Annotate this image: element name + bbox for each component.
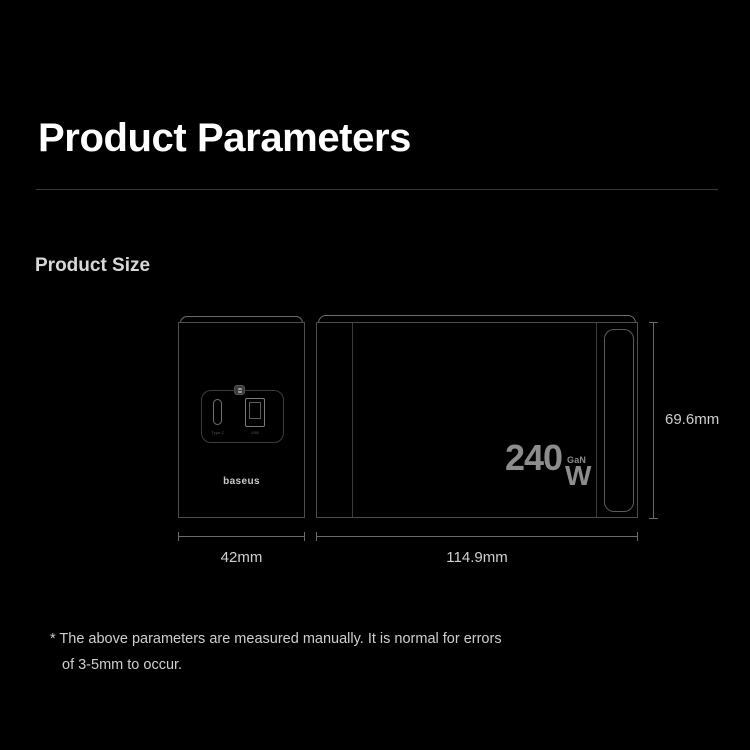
- wattage-unit: W: [565, 462, 591, 490]
- dimension-label-front-width: 42mm: [178, 549, 305, 566]
- usb-a-port-icon: [245, 398, 265, 427]
- side-view-end-cap: [604, 329, 634, 512]
- baseus-brand-logo: baseus: [205, 476, 278, 487]
- dimension-cap-height-top: [649, 322, 658, 323]
- gan-label: GaN: [567, 455, 586, 465]
- port-panel: [201, 390, 284, 443]
- product-parameters-page: Product Parameters Product Size Type-C U…: [0, 0, 750, 750]
- wattage-marking: 240 GaN W: [505, 440, 600, 500]
- section-title-product-size: Product Size: [35, 255, 150, 277]
- usb-a-port-inner: [249, 402, 261, 419]
- front-view-top-bevel: [180, 316, 303, 323]
- dimension-line-height: [653, 322, 654, 518]
- footnote: * The above parameters are measured manu…: [50, 626, 690, 678]
- dimension-label-side-width: 114.9mm: [316, 549, 638, 566]
- dimension-cap-front-left: [178, 532, 179, 541]
- usb-c-port-icon: [213, 399, 222, 425]
- dimension-cap-side-right: [637, 532, 638, 541]
- page-title: Product Parameters: [38, 116, 411, 161]
- dimension-cap-front-right: [304, 532, 305, 541]
- dimension-cap-side-left: [316, 532, 317, 541]
- side-view-body: [316, 322, 638, 518]
- front-view-body: [178, 322, 305, 518]
- dimension-label-height: 69.6mm: [665, 411, 719, 428]
- footnote-line-2: of 3-5mm to occur.: [50, 652, 690, 678]
- dimension-line-front-width: [178, 536, 305, 537]
- footnote-line-1: * The above parameters are measured manu…: [50, 626, 690, 652]
- usb-a-port-label: USB: [241, 431, 269, 435]
- usb-c-port-label: Type-C: [204, 431, 232, 435]
- title-divider: [36, 189, 718, 190]
- dimension-cap-height-bottom: [649, 518, 658, 519]
- badge-glyph: [238, 388, 242, 393]
- side-view-top-bevel: [318, 315, 636, 323]
- certification-badge-icon: [234, 385, 245, 395]
- side-view-seam-right: [596, 323, 597, 517]
- dimension-line-side-width: [316, 536, 638, 537]
- side-view-seam-left: [352, 323, 353, 517]
- wattage-number: 240: [505, 440, 562, 476]
